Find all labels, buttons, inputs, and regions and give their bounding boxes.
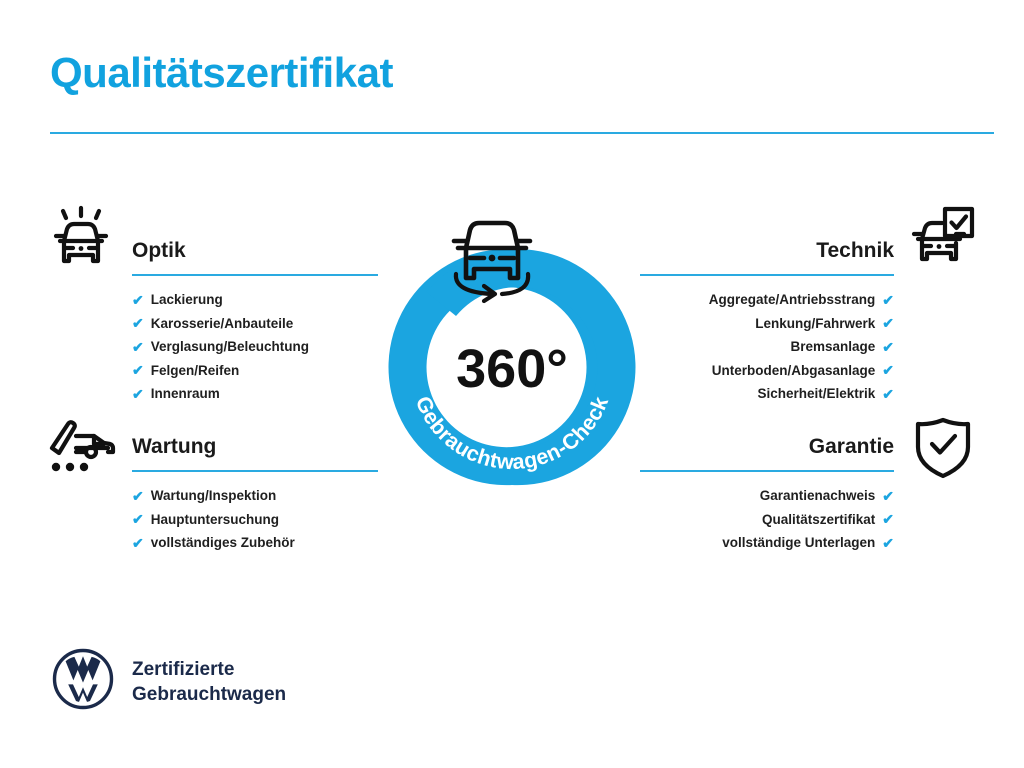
check-icon: ✔ [882, 536, 894, 550]
car-checkbox-icon [908, 203, 978, 278]
list-item-label: Innenraum [151, 382, 220, 406]
footer-line-1: Zertifizierte [132, 657, 286, 682]
badge-center-label: 360° [456, 339, 568, 399]
section-title: Wartung [132, 432, 378, 462]
list-item: Bremsanlage ✔ [640, 335, 894, 359]
check-icon: ✔ [132, 340, 144, 354]
check-icon: ✔ [132, 387, 144, 401]
shield-check-icon [912, 415, 974, 486]
list-item-label: Hauptuntersuchung [151, 508, 279, 532]
check-icon: ✔ [882, 387, 894, 401]
footer-text: Zertifizierte Gebrauchtwagen [132, 657, 286, 707]
section-header-technik: Technik [640, 236, 894, 276]
section-header-garantie: Garantie [640, 432, 894, 472]
section-divider [132, 470, 378, 472]
list-item-label: Aggregate/Antriebsstrang [709, 288, 876, 312]
check-icon: ✔ [132, 512, 144, 526]
list-item-label: vollständiges Zubehör [151, 531, 295, 555]
section-wartung: Wartung ✔ Wartung/Inspektion ✔ Hauptunte… [132, 432, 378, 555]
check-icon: ✔ [132, 293, 144, 307]
list-item-label: Bremsanlage [790, 335, 875, 359]
check-icon: ✔ [882, 489, 894, 503]
list-item: Sicherheit/Elektrik ✔ [640, 382, 894, 406]
list-item-label: Garantienachweis [760, 484, 876, 508]
list-item: vollständige Unterlagen ✔ [640, 531, 894, 555]
check-icon: ✔ [882, 363, 894, 377]
list-item: ✔ Wartung/Inspektion [132, 484, 378, 508]
checklist-wartung: ✔ Wartung/Inspektion ✔ Hauptuntersuchung… [132, 484, 378, 555]
list-item: ✔ Lackierung [132, 288, 378, 312]
section-divider [640, 274, 894, 276]
footer-line-2: Gebrauchtwagen [132, 682, 286, 707]
page-title: Qualitätszertifikat [50, 52, 393, 94]
check-icon: ✔ [132, 536, 144, 550]
list-item: ✔ Innenraum [132, 382, 378, 406]
list-item: ✔ Karosserie/Anbauteile [132, 312, 378, 336]
section-optik: Optik ✔ Lackierung ✔ Karosserie/Anbautei… [132, 236, 378, 406]
list-item-label: Qualitätszertifikat [762, 508, 875, 532]
list-item: Unterboden/Abgasanlage ✔ [640, 359, 894, 383]
section-technik: Technik Aggregate/Antriebsstrang ✔ Lenku… [640, 236, 894, 406]
list-item-label: Sicherheit/Elektrik [757, 382, 875, 406]
360-check-badge: Gebrauchtwagen-Check 360° [372, 192, 652, 492]
check-icon: ✔ [132, 489, 144, 503]
list-item: Lenkung/Fahrwerk ✔ [640, 312, 894, 336]
list-item-label: Verglasung/Beleuchtung [151, 335, 309, 359]
checklist-garantie: Garantienachweis ✔ Qualitätszertifikat ✔… [640, 484, 894, 555]
section-title: Technik [640, 236, 894, 266]
list-item: Qualitätszertifikat ✔ [640, 508, 894, 532]
section-header-wartung: Wartung [132, 432, 378, 472]
list-item: Aggregate/Antriebsstrang ✔ [640, 288, 894, 312]
list-item: Garantienachweis ✔ [640, 484, 894, 508]
car-shine-icon [46, 203, 116, 278]
checklist-technik: Aggregate/Antriebsstrang ✔ Lenkung/Fahrw… [640, 288, 894, 406]
car-service-icon [46, 414, 118, 483]
list-item-label: Unterboden/Abgasanlage [712, 359, 876, 383]
list-item-label: vollständige Unterlagen [722, 531, 875, 555]
title-divider [50, 132, 994, 134]
list-item-label: Wartung/Inspektion [151, 484, 277, 508]
list-item: ✔ Verglasung/Beleuchtung [132, 335, 378, 359]
check-icon: ✔ [882, 512, 894, 526]
list-item: ✔ Felgen/Reifen [132, 359, 378, 383]
check-icon: ✔ [882, 340, 894, 354]
list-item: ✔ vollständiges Zubehör [132, 531, 378, 555]
section-title: Garantie [640, 432, 894, 462]
list-item-label: Karosserie/Anbauteile [151, 312, 294, 336]
check-icon: ✔ [132, 363, 144, 377]
list-item-label: Lackierung [151, 288, 223, 312]
section-divider [132, 274, 378, 276]
checklist-optik: ✔ Lackierung ✔ Karosserie/Anbauteile ✔ V… [132, 288, 378, 406]
check-icon: ✔ [882, 293, 894, 307]
section-divider [640, 470, 894, 472]
check-icon: ✔ [882, 316, 894, 330]
vw-logo [52, 648, 114, 715]
check-icon: ✔ [132, 316, 144, 330]
section-title: Optik [132, 236, 378, 266]
list-item-label: Felgen/Reifen [151, 359, 240, 383]
section-header-optik: Optik [132, 236, 378, 276]
footer-logo-block: Zertifizierte Gebrauchtwagen [52, 648, 286, 715]
list-item-label: Lenkung/Fahrwerk [755, 312, 875, 336]
section-garantie: Garantie Garantienachweis ✔ Qualitätszer… [640, 432, 894, 555]
list-item: ✔ Hauptuntersuchung [132, 508, 378, 532]
